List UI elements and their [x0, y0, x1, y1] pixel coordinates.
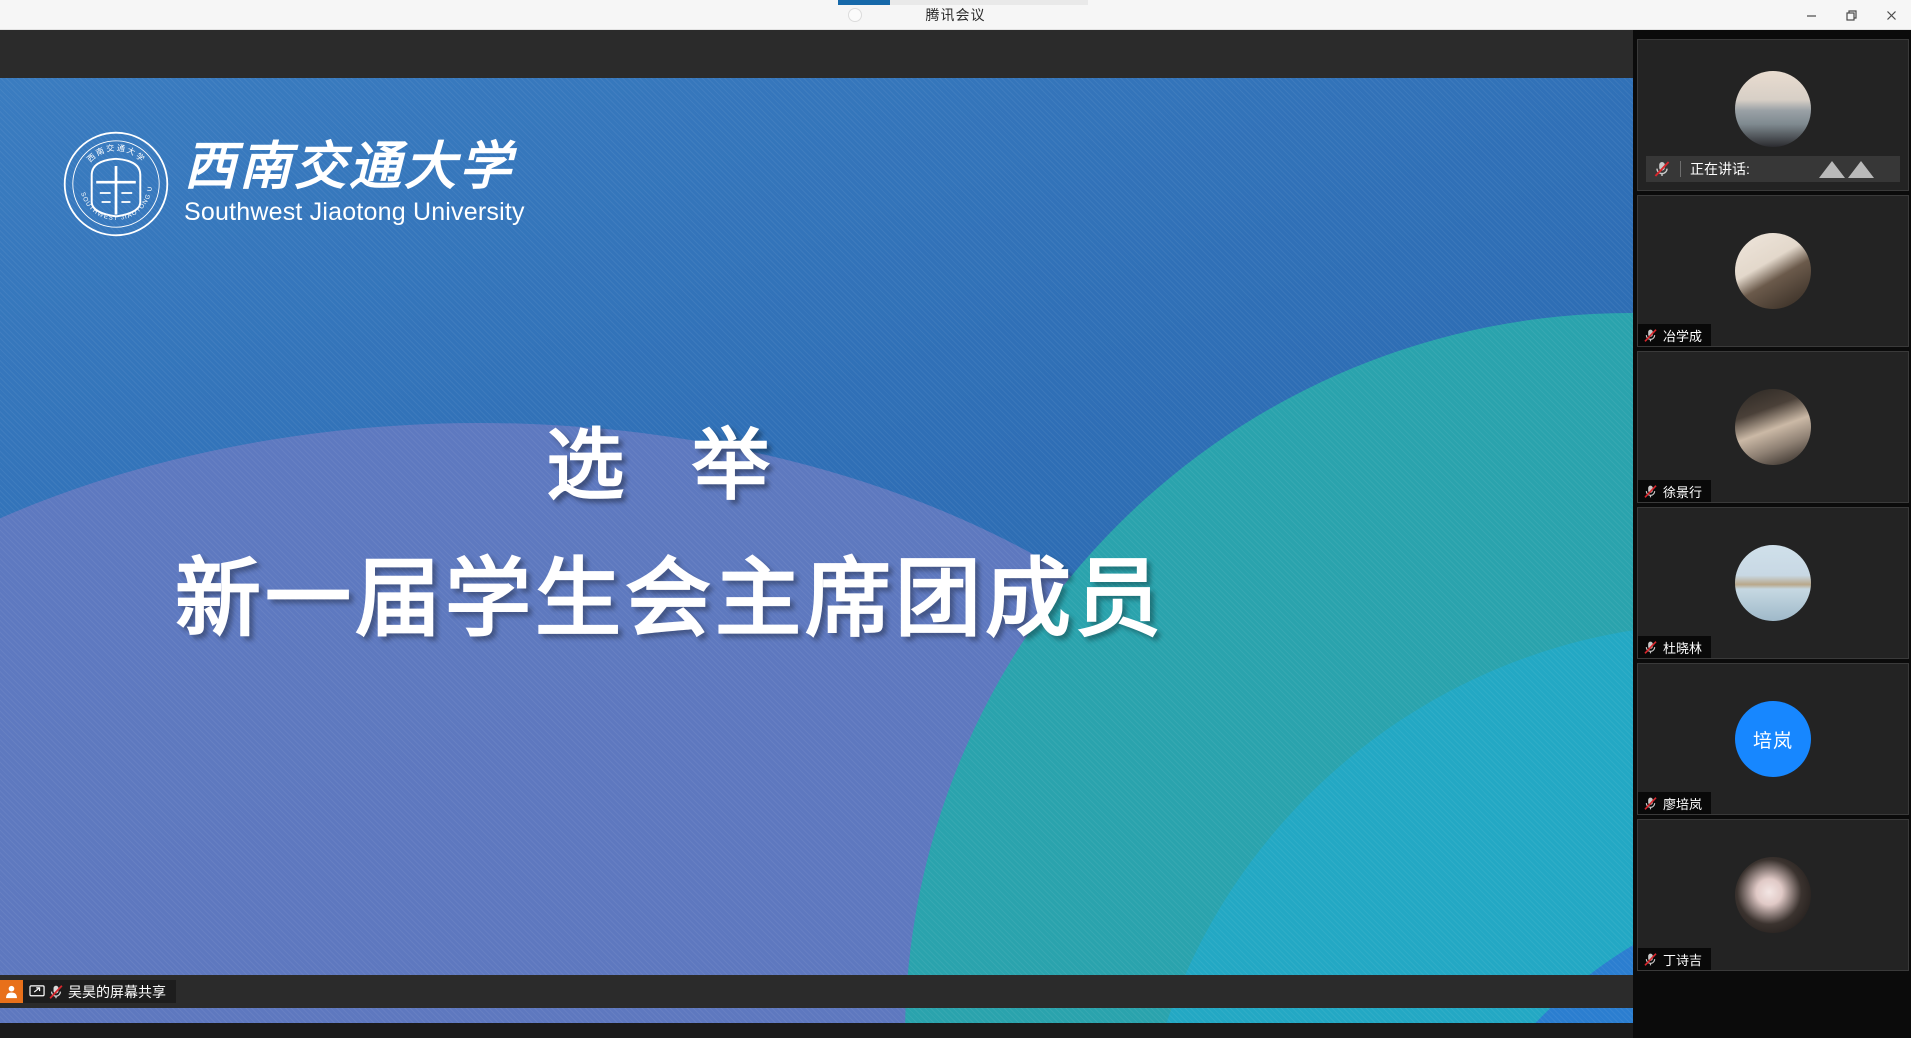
participant-name-chip: 冶学成	[1638, 324, 1711, 346]
participant-name-chip: 正在讲话:	[1646, 156, 1900, 182]
avatar	[1735, 71, 1811, 147]
shared-screen-stage: 西南交通大学 SOUTHWEST JIAOTONG UNIVERSITY 西南交…	[0, 30, 1633, 1008]
participant-name-chip: 杜晓林	[1638, 636, 1711, 658]
share-status-icons	[23, 984, 68, 1000]
participant-name-chip: 廖培岚	[1638, 792, 1711, 814]
microphone-muted-icon	[48, 984, 64, 1000]
person-icon	[4, 984, 19, 999]
screen-share-chip[interactable]: 吴昊的屏幕共享	[0, 980, 176, 1003]
presenter-label: 吴昊的屏幕共享	[68, 982, 176, 1002]
microphone-muted-icon	[1643, 796, 1658, 811]
screen-share-bar: 吴昊的屏幕共享	[0, 975, 1633, 1008]
participant-name: 丁诗吉	[1663, 950, 1702, 969]
minimize-icon[interactable]	[1791, 0, 1831, 30]
participant-name: 冶学成	[1663, 326, 1702, 345]
title-bar: 腾讯会议	[0, 0, 1911, 30]
participant-name: 杜晓林	[1663, 638, 1702, 657]
participant-tile-speaking[interactable]: 正在讲话:	[1637, 39, 1909, 191]
participant-name-chip: 丁诗吉	[1638, 948, 1711, 970]
speaking-waveform-icon	[1819, 161, 1874, 178]
participant-tile[interactable]: 丁诗吉	[1637, 819, 1909, 971]
avatar-initials: 培岚	[1735, 701, 1811, 777]
microphone-muted-icon	[1643, 328, 1658, 343]
microphone-muted-icon	[1653, 160, 1671, 178]
participant-name-chip: 徐景行	[1638, 480, 1711, 502]
university-logo: 西南交通大学 SOUTHWEST JIAOTONG UNIVERSITY 西南交…	[62, 130, 525, 238]
university-name-en: Southwest Jiaotong University	[184, 198, 525, 227]
avatar	[1735, 857, 1811, 933]
maximize-icon[interactable]	[1831, 0, 1871, 30]
avatar	[1735, 545, 1811, 621]
avatar	[1735, 233, 1811, 309]
screen-share-icon	[29, 984, 46, 999]
presentation-slide: 西南交通大学 SOUTHWEST JIAOTONG UNIVERSITY 西南交…	[0, 78, 1633, 1023]
university-name-cn: 西南交通大学	[184, 141, 525, 196]
participant-tile[interactable]: 杜晓林	[1637, 507, 1909, 659]
speaking-status-label: 正在讲话:	[1690, 159, 1750, 179]
participant-name: 徐景行	[1663, 482, 1702, 501]
slide-title: 选 举	[0, 403, 1340, 515]
slide-subtitle: 新一届学生会主席团成员	[0, 528, 1340, 653]
participant-rail[interactable]: 正在讲话: 冶学成	[1633, 30, 1911, 1038]
participant-tile[interactable]: 徐景行	[1637, 351, 1909, 503]
chip-divider	[1680, 161, 1681, 177]
microphone-muted-icon	[1643, 952, 1658, 967]
avatar: 培岚	[1735, 701, 1811, 777]
university-crest-icon: 西南交通大学 SOUTHWEST JIAOTONG UNIVERSITY	[62, 130, 170, 238]
participant-tile[interactable]: 培岚 廖培岚	[1637, 663, 1909, 815]
university-wordmark: 西南交通大学 Southwest Jiaotong University	[184, 141, 525, 227]
window-controls	[1791, 0, 1911, 30]
participant-name: 廖培岚	[1663, 794, 1702, 813]
close-icon[interactable]	[1871, 0, 1911, 30]
microphone-muted-icon	[1643, 484, 1658, 499]
window-title: 腾讯会议	[0, 0, 1911, 30]
presenter-avatar	[0, 980, 23, 1003]
svg-text:西南交通大学: 西南交通大学	[85, 142, 148, 164]
avatar	[1735, 389, 1811, 465]
tencent-meeting-window: 腾讯会议	[0, 0, 1911, 1038]
participant-tile[interactable]: 冶学成	[1637, 195, 1909, 347]
microphone-muted-icon	[1643, 640, 1658, 655]
